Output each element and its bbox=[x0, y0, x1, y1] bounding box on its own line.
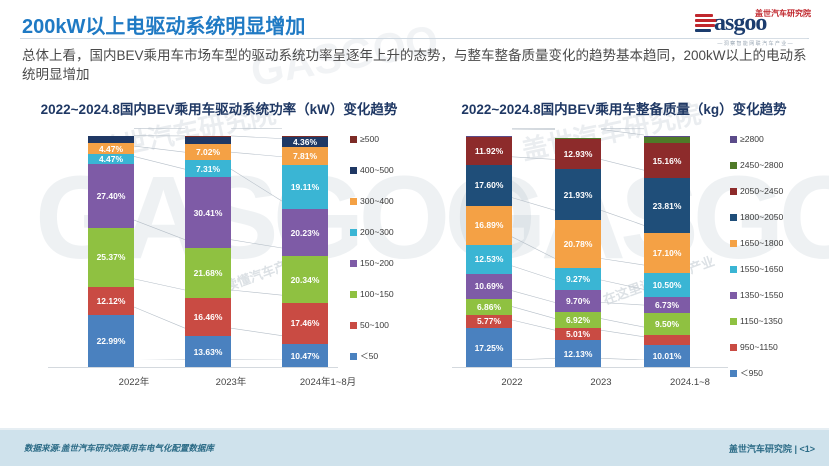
x-axis-label: 2024.1~8 bbox=[647, 377, 733, 388]
legend-item[interactable]: 1350~1550 bbox=[730, 290, 783, 300]
bar-segment[interactable] bbox=[185, 137, 231, 145]
legend-swatch bbox=[350, 353, 357, 360]
legend-item[interactable]: 1150~1350 bbox=[730, 316, 783, 326]
legend-swatch bbox=[350, 322, 357, 329]
bar-segment[interactable]: 4.47% bbox=[88, 143, 134, 153]
bar-segment[interactable]: 21.93% bbox=[555, 169, 601, 220]
slide-page: GASGOO GASGOO GASGOO 盖世汽车研究院 盖世汽车研究院 在这里… bbox=[0, 0, 829, 466]
chart-title: 2022~2024.8国内BEV乘用车整备质量（kg）变化趋势 bbox=[424, 98, 824, 118]
bar-segment[interactable]: 12.13% bbox=[555, 340, 601, 368]
bar-segment[interactable]: 9.70% bbox=[555, 290, 601, 313]
x-axis-label: 2022年 bbox=[91, 374, 177, 388]
bar-segment[interactable]: 12.93% bbox=[555, 139, 601, 169]
legend-swatch bbox=[730, 344, 737, 351]
bar-segment[interactable]: 4.36% bbox=[282, 137, 328, 147]
chart-legend: ≥500400~500300~400200~300150~200100~1505… bbox=[350, 134, 394, 382]
legend-label: ＜950 bbox=[740, 367, 763, 379]
x-axis-line bbox=[48, 367, 338, 368]
bar-segment[interactable]: 7.02% bbox=[185, 144, 231, 160]
legend-label: 50~100 bbox=[360, 320, 389, 330]
bar-segment[interactable]: 15.16% bbox=[644, 143, 690, 178]
bar-segment[interactable] bbox=[644, 335, 690, 345]
bar-segment[interactable]: 10.01% bbox=[644, 345, 690, 368]
legend-item[interactable]: 1650~1800 bbox=[730, 238, 783, 248]
logo-wordmark: asgoo bbox=[714, 10, 766, 37]
chart-panel-curb-weight: 2022~2024.8国内BEV乘用车整备质量（kg）变化趋势11.92%17.… bbox=[424, 98, 824, 416]
bar-segment[interactable]: 5.01% bbox=[555, 328, 601, 340]
legend-swatch bbox=[350, 229, 357, 236]
bar-segment[interactable]: 25.37% bbox=[88, 228, 134, 287]
bar-segment[interactable]: 7.81% bbox=[282, 147, 328, 165]
legend-item[interactable]: ≥2800 bbox=[730, 134, 783, 144]
legend-item[interactable]: 2450~2800 bbox=[730, 160, 783, 170]
x-axis-label: 2023 bbox=[558, 377, 644, 388]
legend-item[interactable]: 150~200 bbox=[350, 258, 394, 268]
legend-swatch bbox=[350, 136, 357, 143]
legend-label: 2050~2450 bbox=[740, 186, 783, 196]
stacked-bar[interactable]: 11.92%17.60%16.89%12.53%10.69%6.86%5.77%… bbox=[466, 136, 512, 368]
bar-segment[interactable]: 27.40% bbox=[88, 164, 134, 228]
legend-swatch bbox=[350, 198, 357, 205]
bar-segment[interactable]: 21.68% bbox=[185, 248, 231, 298]
legend-label: ＜50 bbox=[360, 350, 378, 362]
legend-item[interactable]: 400~500 bbox=[350, 165, 394, 175]
bar-segment[interactable]: 7.31% bbox=[185, 160, 231, 177]
bar-segment[interactable]: 17.10% bbox=[644, 233, 690, 273]
page-title: 200kW以上电驱动系统明显增加 bbox=[22, 10, 305, 39]
legend-label: 1150~1350 bbox=[740, 316, 783, 326]
footer-band: 数据来源:盖世汽车研究院乘用车电气化配置数据库 盖世汽车研究院 | <1> bbox=[0, 430, 829, 466]
footer-brand-text: 盖世汽车研究院 bbox=[729, 444, 792, 454]
bar-segment[interactable] bbox=[88, 136, 134, 143]
x-axis-line bbox=[452, 367, 728, 368]
legend-item[interactable]: 950~1150 bbox=[730, 342, 783, 352]
legend-label: 1650~1800 bbox=[740, 238, 783, 248]
bar-segment[interactable]: 17.25% bbox=[466, 328, 512, 368]
legend-label: 100~150 bbox=[360, 289, 394, 299]
bar-segment[interactable]: 20.78% bbox=[555, 220, 601, 268]
chart-title: 2022~2024.8国内BEV乘用车驱动系统功率（kW）变化趋势 bbox=[18, 98, 420, 118]
legend-label: 150~200 bbox=[360, 258, 394, 268]
legend-item[interactable]: 200~300 bbox=[350, 227, 394, 237]
legend-label: 2450~2800 bbox=[740, 160, 783, 170]
chart-legend: ≥28002450~28002050~24501800~20501650~180… bbox=[730, 134, 783, 394]
bar-segment[interactable]: 12.53% bbox=[466, 245, 512, 274]
legend-item[interactable]: ＜950 bbox=[730, 368, 783, 378]
footer-page-number: <1> bbox=[799, 444, 815, 454]
legend-item[interactable]: 300~400 bbox=[350, 196, 394, 206]
bar-segment[interactable]: 17.60% bbox=[466, 165, 512, 206]
bar-segment[interactable]: 13.63% bbox=[185, 336, 231, 368]
legend-swatch bbox=[730, 240, 737, 247]
stacked-bar[interactable]: 12.93%21.93%20.78%9.27%9.70%6.92%5.01%12… bbox=[555, 138, 601, 368]
bar-segment[interactable]: 10.50% bbox=[644, 273, 690, 297]
title-divider bbox=[20, 38, 809, 39]
legend-item[interactable]: ≥500 bbox=[350, 134, 394, 144]
bar-segment[interactable]: 30.41% bbox=[185, 177, 231, 248]
page-subtitle: 总体上看，国内BEV乘用车市场车型的驱动系统功率呈逐年上升的态势，与整车整备质量… bbox=[22, 46, 808, 84]
stacked-bar[interactable]: 4.47%4.47%27.40%25.37%12.12%22.99% bbox=[88, 136, 134, 368]
bar-segment[interactable]: 6.92% bbox=[555, 312, 601, 328]
bar-segment[interactable]: 9.27% bbox=[555, 268, 601, 290]
plot-area: 11.92%17.60%16.89%12.53%10.69%6.86%5.77%… bbox=[452, 128, 728, 390]
legend-swatch bbox=[730, 370, 737, 377]
legend-swatch bbox=[730, 214, 737, 221]
x-axis-label: 2023年 bbox=[188, 374, 274, 388]
legend-swatch bbox=[350, 291, 357, 298]
bar-segment[interactable]: 4.47% bbox=[88, 154, 134, 164]
footer-source-text: 数据来源:盖世汽车研究院乘用车电气化配置数据库 bbox=[24, 442, 214, 454]
legend-label: ≥2800 bbox=[740, 134, 764, 144]
bar-segment[interactable]: 9.50% bbox=[644, 313, 690, 335]
legend-label: 400~500 bbox=[360, 165, 394, 175]
gasgoo-logo: 盖世汽车研究院 asgoo — 洞 察 智 能 网 联 汽 车 产 业 — bbox=[695, 8, 813, 46]
bar-segment[interactable]: 10.69% bbox=[466, 274, 512, 299]
legend-swatch bbox=[730, 162, 737, 169]
legend-label: 200~300 bbox=[360, 227, 394, 237]
legend-item[interactable]: 1800~2050 bbox=[730, 212, 783, 222]
chart-panel-power: 2022~2024.8国内BEV乘用车驱动系统功率（kW）变化趋势4.47%4.… bbox=[18, 98, 420, 416]
bar-segment[interactable]: 5.77% bbox=[466, 315, 512, 328]
stacked-bar[interactable]: 4.36%7.81%19.11%20.23%20.34%17.46%10.47% bbox=[282, 136, 328, 368]
bar-segment[interactable]: 12.12% bbox=[88, 287, 134, 315]
legend-swatch bbox=[730, 292, 737, 299]
legend-item[interactable]: 1550~1650 bbox=[730, 264, 783, 274]
legend-item[interactable]: ＜50 bbox=[350, 351, 394, 361]
footer-brand: 盖世汽车研究院 | <1> bbox=[729, 442, 815, 455]
bar-segment[interactable]: 20.23% bbox=[282, 209, 328, 256]
plot-area: 4.47%4.47%27.40%25.37%12.12%22.99%2022年7… bbox=[48, 128, 338, 390]
bar-segment[interactable]: 20.34% bbox=[282, 256, 328, 303]
legend-label: 950~1150 bbox=[740, 342, 778, 352]
legend-item[interactable]: 2050~2450 bbox=[730, 186, 783, 196]
bar-segment[interactable]: 11.92% bbox=[466, 137, 512, 165]
bar-segment[interactable]: 17.46% bbox=[282, 303, 328, 344]
legend-item[interactable]: 50~100 bbox=[350, 320, 394, 330]
logo-tagline: — 洞 察 智 能 网 联 汽 车 产 业 — bbox=[703, 38, 807, 47]
legend-label: 1350~1550 bbox=[740, 290, 783, 300]
legend-swatch bbox=[730, 318, 737, 325]
bar-segment[interactable]: 16.46% bbox=[185, 298, 231, 336]
legend-swatch bbox=[350, 260, 357, 267]
bar-segment[interactable]: 10.47% bbox=[282, 344, 328, 368]
legend-item[interactable]: 100~150 bbox=[350, 289, 394, 299]
stacked-bar[interactable]: 15.16%23.81%17.10%10.50%6.73%9.50%10.01% bbox=[644, 136, 690, 368]
stacked-bar[interactable]: 7.02%7.31%30.41%21.68%16.46%13.63% bbox=[185, 136, 231, 368]
legend-label: 1550~1650 bbox=[740, 264, 783, 274]
bar-segment[interactable]: 23.81% bbox=[644, 178, 690, 233]
bar-segment[interactable]: 19.11% bbox=[282, 165, 328, 209]
legend-swatch bbox=[730, 188, 737, 195]
legend-swatch bbox=[730, 136, 737, 143]
legend-swatch bbox=[730, 266, 737, 273]
bar-segment[interactable]: 6.86% bbox=[466, 299, 512, 315]
bar-segment[interactable]: 6.73% bbox=[644, 297, 690, 313]
x-axis-label: 2022 bbox=[469, 377, 555, 388]
legend-label: 1800~2050 bbox=[740, 212, 783, 222]
bar-segment[interactable]: 22.99% bbox=[88, 315, 134, 368]
bar-segment[interactable]: 16.89% bbox=[466, 206, 512, 245]
legend-label: ≥500 bbox=[360, 134, 379, 144]
legend-swatch bbox=[350, 167, 357, 174]
legend-label: 300~400 bbox=[360, 196, 394, 206]
